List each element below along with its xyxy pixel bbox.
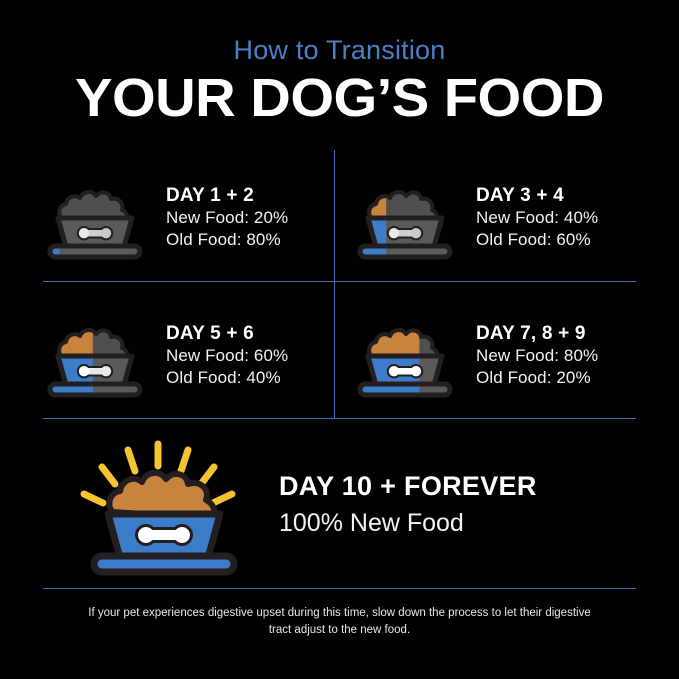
page-title: YOUR DOG’S FOOD xyxy=(0,70,679,127)
step-4-old-food: Old Food: 20% xyxy=(476,367,598,389)
step-card-3: DAY 5 + 6 New Food: 60% Old Food: 40% xyxy=(30,298,330,413)
bone-icon xyxy=(138,527,190,543)
step-3-old-food: Old Food: 40% xyxy=(166,367,288,389)
step-3-new-food: New Food: 60% xyxy=(166,345,288,367)
dog-bowl-icon xyxy=(36,310,154,402)
step-2-bowl xyxy=(340,172,470,264)
step-2-text: DAY 3 + 4 New Food: 40% Old Food: 60% xyxy=(470,184,598,252)
infographic-page: How to Transition YOUR DOG’S FOOD xyxy=(0,0,679,679)
step-card-1: DAY 1 + 2 New Food: 20% Old Food: 80% xyxy=(30,160,330,275)
bowl-base xyxy=(50,384,140,395)
step-4-bowl xyxy=(340,310,470,402)
step-3-day-label: DAY 5 + 6 xyxy=(166,322,288,346)
step-1-day-label: DAY 1 + 2 xyxy=(166,184,288,208)
bowl-base xyxy=(360,246,450,257)
bowl-base xyxy=(94,556,234,572)
step-4-day-label: DAY 7, 8 + 9 xyxy=(476,322,598,346)
header-subtitle: How to Transition xyxy=(0,36,679,66)
divider-horizontal-footer xyxy=(43,588,636,589)
step-2-new-food: New Food: 40% xyxy=(476,207,598,229)
step-4-text: DAY 7, 8 + 9 New Food: 80% Old Food: 20% xyxy=(470,322,598,390)
header: How to Transition YOUR DOG’S FOOD xyxy=(0,0,679,126)
bone-icon xyxy=(79,228,111,238)
final-step-day-label: DAY 10 + FOREVER xyxy=(279,470,537,504)
final-step-card: DAY 10 + FOREVER 100% New Food xyxy=(43,425,636,585)
final-step-text: DAY 10 + FOREVER 100% New Food xyxy=(273,470,537,539)
bone-icon xyxy=(79,366,111,376)
dog-bowl-shine-icon xyxy=(58,430,258,580)
divider-horizontal-lower xyxy=(43,418,636,419)
step-card-4: DAY 7, 8 + 9 New Food: 80% Old Food: 20% xyxy=(340,298,640,413)
divider-horizontal-middle xyxy=(43,281,636,282)
step-3-bowl xyxy=(30,310,160,402)
step-1-text: DAY 1 + 2 New Food: 20% Old Food: 80% xyxy=(160,184,288,252)
final-step-bowl xyxy=(43,430,273,580)
step-1-old-food: Old Food: 80% xyxy=(166,229,288,251)
step-4-new-food: New Food: 80% xyxy=(476,345,598,367)
step-2-day-label: DAY 3 + 4 xyxy=(476,184,598,208)
dog-bowl-icon xyxy=(346,172,464,264)
bowl-base xyxy=(50,246,140,257)
bone-icon xyxy=(389,366,421,376)
footer-note: If your pet experiences digestive upset … xyxy=(80,605,599,638)
divider-vertical-center xyxy=(334,150,335,419)
step-1-bowl xyxy=(30,172,160,264)
dog-bowl-icon xyxy=(346,310,464,402)
step-1-new-food: New Food: 20% xyxy=(166,207,288,229)
step-card-2: DAY 3 + 4 New Food: 40% Old Food: 60% xyxy=(340,160,640,275)
bowl-base xyxy=(360,384,450,395)
step-3-text: DAY 5 + 6 New Food: 60% Old Food: 40% xyxy=(160,322,288,390)
bone-icon xyxy=(389,228,421,238)
dog-bowl-icon xyxy=(36,172,154,264)
step-2-old-food: Old Food: 60% xyxy=(476,229,598,251)
final-step-sub-label: 100% New Food xyxy=(279,507,537,540)
